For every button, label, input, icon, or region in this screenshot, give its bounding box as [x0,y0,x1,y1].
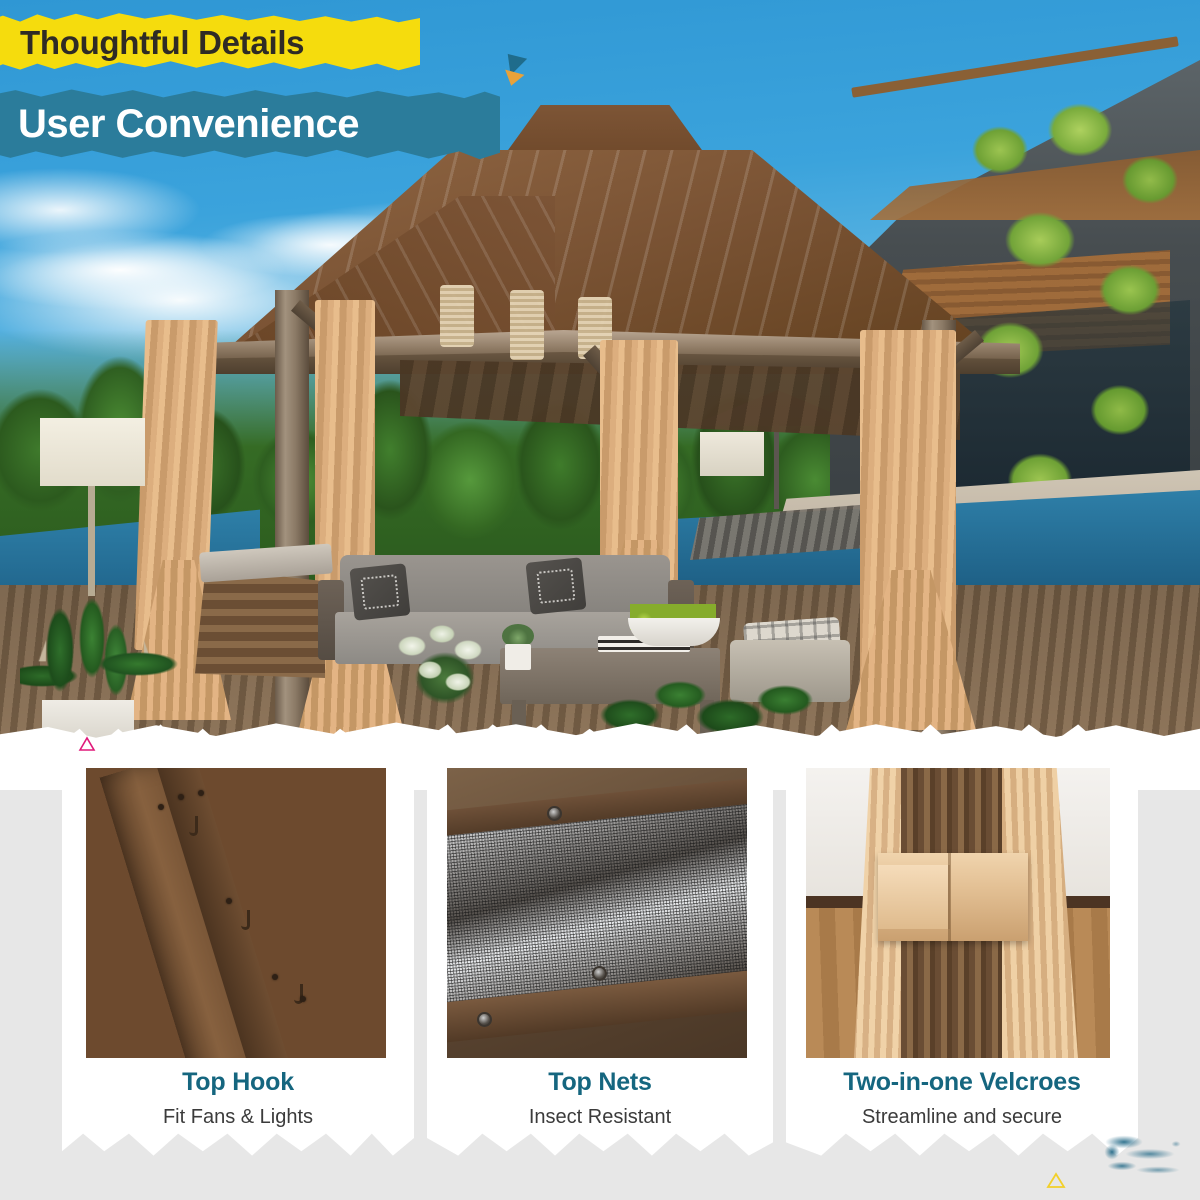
card-title: Top Nets [427,1068,773,1097]
patio-umbrella-pole [774,424,779,509]
card-subtitle: Fit Fans & Lights [62,1106,414,1129]
feature-card-row: Top Hook Fit Fans & Lights Top Nets Inse… [0,720,1200,1200]
feature-thumbnail-velcro [806,768,1110,1058]
triangle-yellow-outline-icon [1046,1172,1066,1189]
card-subtitle: Insect Resistant [427,1106,773,1129]
card-title: Top Hook [62,1068,414,1097]
background-lamp-shade [700,432,764,476]
card-title: Two-in-one Velcroes [786,1068,1138,1097]
bolt [178,794,184,800]
hanging-lantern [510,290,544,360]
white-lily-arrangement [390,620,500,730]
velcro-seam [948,853,951,941]
teal-brush-splash-icon [1098,1126,1194,1188]
card-subtitle: Streamline and secure [786,1106,1138,1129]
eyebrow-text: Thoughtful Details [20,18,440,68]
page-title: User Convenience [18,95,518,153]
velcro-flap [878,865,950,929]
throw-pillow [525,557,586,615]
feature-card-top-hook[interactable]: Top Hook Fit Fans & Lights [62,720,414,1160]
bolt [300,996,306,1002]
floor-lamp-shade [40,418,145,486]
pillow-pattern [536,568,575,604]
grommet-icon [477,1012,492,1027]
velcro-tieback-strap [878,853,1028,941]
bolt [198,790,204,796]
bolt [158,804,164,810]
throw-pillow [349,563,410,621]
feature-thumbnail-top-hook [86,768,386,1058]
bolt [272,974,278,980]
bolt [226,898,232,904]
feature-card-top-nets[interactable]: Top Nets Insect Resistant [427,720,773,1160]
ceiling-hook-icon [189,816,198,836]
wood-chair [195,568,325,678]
feature-card-velcro[interactable]: Two-in-one Velcroes Streamline and secur… [786,720,1138,1160]
triangle-pink-outline-icon [78,736,96,752]
marketing-infographic: Thoughtful Details User Convenience [0,0,1200,1200]
plant-pot [505,644,531,670]
grommet-icon [592,966,607,981]
feature-thumbnail-top-nets [447,768,747,1058]
hanging-lantern [440,285,474,347]
grommet-icon [547,806,562,821]
fruit-bowl [628,618,720,646]
ceiling-hook-icon [241,910,250,930]
pillow-pattern [360,574,399,610]
